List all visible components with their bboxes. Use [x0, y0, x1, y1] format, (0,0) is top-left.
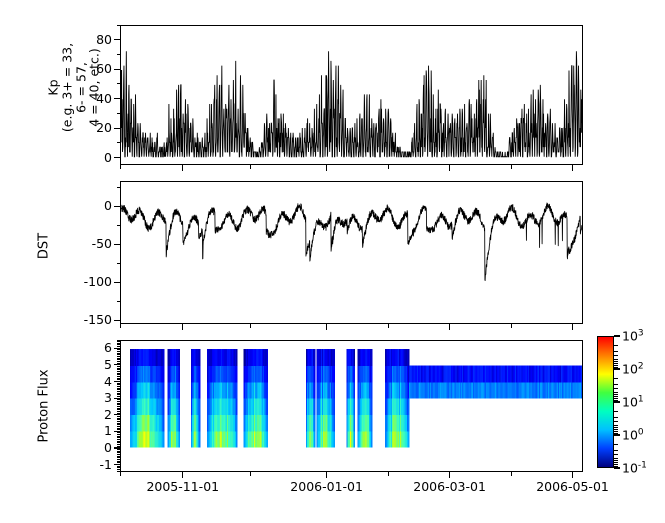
y-tick-label: 0: [72, 200, 112, 213]
y-tick-minor: [117, 408, 121, 409]
x-tick-label: 2006-05-01: [536, 481, 609, 494]
colorbar-tick-minor: [614, 429, 618, 430]
colorbar-tick-minor: [614, 433, 618, 434]
colorbar-label-exponent: 3: [638, 328, 644, 338]
y-tick-minor: [117, 378, 121, 379]
y-tick-minor: [117, 428, 121, 429]
y-tick-minor: [117, 371, 121, 372]
x-tick-minor: [388, 472, 389, 476]
x-tick-major: [572, 472, 573, 478]
y-tick-major: [114, 39, 120, 40]
x-tick-major: [326, 165, 327, 171]
colorbar-tick-minor: [614, 361, 618, 362]
colorbar-tick-minor: [614, 400, 618, 401]
x-tick-major: [326, 324, 327, 330]
y-tick-minor: [117, 439, 121, 440]
y-tick-minor: [117, 424, 121, 425]
y-tick-major: [114, 157, 120, 158]
y-tick-minor: [117, 359, 121, 360]
kp-axis-title-line: Kp: [47, 13, 61, 163]
y-tick-label: 1: [72, 425, 112, 438]
x-tick-major: [449, 324, 450, 330]
y-tick-minor: [117, 418, 121, 419]
y-tick-minor: [117, 54, 121, 55]
y-tick-minor: [117, 434, 121, 435]
colorbar-tick-minor: [614, 411, 618, 412]
colorbar-tick-minor: [614, 427, 618, 428]
y-tick-label: 6: [72, 342, 112, 355]
y-tick-minor: [117, 83, 121, 84]
y-tick-minor: [117, 301, 121, 302]
colorbar-tick-minor: [614, 462, 618, 463]
colorbar-tick-minor: [614, 378, 618, 379]
kp-axis-title-line: (e.g. 3+ = 33,: [60, 13, 74, 163]
x-tick-minor: [250, 324, 251, 328]
colorbar-label-base: 10: [622, 329, 638, 344]
colorbar-tick-major: [614, 401, 620, 402]
y-tick-label: 0: [72, 442, 112, 455]
y-tick-minor: [117, 373, 121, 374]
colorbar-tick-minor: [614, 359, 618, 360]
kp-axis-title: Kp(e.g. 3+ = 33,6- = 57,4 = 40, etc.): [47, 13, 102, 163]
x-tick-minor: [250, 472, 251, 476]
colorbar-tick-minor: [614, 367, 618, 368]
y-tick-major: [114, 69, 120, 70]
y-tick-minor: [117, 389, 121, 390]
colorbar-tick-major: [614, 434, 620, 435]
colorbar-tick-minor: [614, 345, 618, 346]
colorbar-tick-minor: [614, 444, 618, 445]
x-tick-minor: [120, 165, 121, 169]
colorbar-tick-minor: [614, 425, 618, 426]
y-tick-minor: [117, 386, 121, 387]
y-tick-minor: [117, 441, 121, 442]
x-tick-label: 2005-11-01: [146, 481, 219, 494]
y-tick-minor: [117, 351, 121, 352]
x-tick-minor: [388, 324, 389, 328]
y-tick-minor: [117, 391, 121, 392]
y-tick-minor: [117, 225, 121, 226]
y-tick-minor: [117, 401, 121, 402]
colorbar-label-base: 10: [622, 461, 638, 476]
y-tick-minor: [117, 25, 121, 26]
y-tick-minor: [117, 393, 121, 394]
y-tick-minor: [117, 344, 121, 345]
y-tick-minor: [117, 419, 121, 420]
y-tick-major: [114, 128, 120, 129]
y-tick-major: [114, 206, 120, 207]
colorbar-tick-minor: [614, 394, 618, 395]
colorbar-tick-label: 103: [622, 328, 644, 343]
y-tick-minor: [117, 399, 121, 400]
y-tick-minor: [117, 459, 121, 460]
colorbar-tick-minor: [614, 355, 618, 356]
x-tick-minor: [511, 472, 512, 476]
y-tick-minor: [117, 442, 121, 443]
y-tick-minor: [117, 426, 121, 427]
y-tick-minor: [117, 403, 121, 404]
colorbar-tick-major: [614, 467, 620, 468]
y-tick-minor: [117, 452, 121, 453]
y-tick-minor: [117, 404, 121, 405]
proton-flux-panel: [120, 340, 583, 472]
colorbar-tick-label: 100: [622, 427, 644, 442]
x-tick-major: [572, 165, 573, 171]
y-tick-label: 5: [72, 359, 112, 372]
y-tick-label: 3: [72, 392, 112, 405]
y-tick-minor: [117, 358, 121, 359]
y-tick-minor: [117, 356, 121, 357]
y-tick-label: -1: [72, 458, 112, 471]
y-tick-label: 2: [72, 408, 112, 421]
y-tick-minor: [117, 368, 121, 369]
y-tick-minor: [117, 340, 121, 341]
y-tick-minor: [117, 366, 121, 367]
y-tick-minor: [117, 354, 121, 355]
y-tick-minor: [117, 454, 121, 455]
dst-panel: [120, 181, 583, 324]
y-tick-minor: [117, 413, 121, 414]
y-tick-minor: [117, 383, 121, 384]
y-tick-label: -150: [72, 314, 112, 327]
colorbar-tick-minor: [614, 351, 618, 352]
y-tick-minor: [117, 363, 121, 364]
y-tick-major: [114, 282, 120, 283]
colorbar-tick-minor: [614, 384, 618, 385]
colorbar-tick-major: [614, 335, 620, 336]
colorbar-tick-minor: [614, 392, 618, 393]
x-tick-minor: [511, 165, 512, 169]
colorbar-tick-minor: [614, 421, 618, 422]
colorbar-tick-minor: [614, 466, 618, 467]
kp-axis-title-line: 6- = 57,: [74, 13, 88, 163]
colorbar-label-exponent: 0: [638, 427, 644, 437]
y-tick-minor: [117, 456, 121, 457]
colorbar-label-base: 10: [622, 362, 638, 377]
y-tick-minor: [117, 406, 121, 407]
y-tick-label: 4: [72, 375, 112, 388]
y-tick-minor: [117, 384, 121, 385]
colorbar-tick-minor: [614, 417, 618, 418]
colorbar-label-base: 10: [622, 428, 638, 443]
y-tick-minor: [117, 396, 121, 397]
x-tick-major: [326, 472, 327, 478]
y-tick-minor: [117, 462, 121, 463]
y-tick-minor: [117, 446, 121, 447]
y-tick-minor: [117, 461, 121, 462]
kp-panel: [120, 25, 583, 165]
y-tick-minor: [117, 432, 121, 433]
colorbar-label-exponent: -1: [638, 460, 647, 470]
colorbar-tick-minor: [614, 396, 618, 397]
colorbar-tick-minor: [614, 460, 618, 461]
y-tick-minor: [117, 346, 121, 347]
y-tick-minor: [117, 451, 121, 452]
y-tick-minor: [117, 353, 121, 354]
kp-axis-title-line: 4 = 40, etc.): [88, 13, 102, 163]
colorbar-label-exponent: 2: [638, 361, 644, 371]
colorbar-tick-label: 102: [622, 361, 644, 376]
y-tick-minor: [117, 376, 121, 377]
colorbar-tick-major: [614, 368, 620, 369]
y-tick-minor: [117, 349, 121, 350]
y-tick-minor: [117, 394, 121, 395]
colorbar-tick-minor: [614, 450, 618, 451]
y-tick-label: -100: [72, 276, 112, 289]
x-tick-minor: [120, 324, 121, 328]
y-tick-minor: [117, 444, 121, 445]
x-tick-minor: [250, 165, 251, 169]
x-tick-major: [182, 472, 183, 478]
x-tick-label: 2006-01-01: [290, 481, 363, 494]
x-tick-major: [182, 165, 183, 171]
y-tick-minor: [117, 187, 121, 188]
y-tick-minor: [117, 142, 121, 143]
colorbar-tick-minor: [614, 388, 618, 389]
x-tick-major: [449, 165, 450, 171]
x-tick-label: 2006-03-01: [413, 481, 486, 494]
y-tick-minor: [117, 374, 121, 375]
colorbar-tick-label: 10-1: [622, 460, 647, 475]
x-tick-major: [449, 472, 450, 478]
kp-series: [121, 26, 582, 164]
colorbar-label-base: 10: [622, 395, 638, 410]
y-tick-minor: [117, 457, 121, 458]
y-tick-minor: [117, 437, 121, 438]
y-tick-minor: [117, 411, 121, 412]
colorbar-gradient: [597, 336, 614, 468]
x-tick-minor: [511, 324, 512, 328]
y-tick-minor: [117, 341, 121, 342]
y-tick-minor: [117, 343, 121, 344]
y-tick-minor: [117, 369, 121, 370]
proton-flux-heatmap: [121, 341, 582, 471]
x-tick-major: [182, 324, 183, 330]
figure-root: 020406080 Kp(e.g. 3+ = 33,6- = 57,4 = 40…: [0, 0, 665, 523]
y-tick-minor: [117, 416, 121, 417]
colorbar-tick-minor: [614, 458, 618, 459]
colorbar-tick-minor: [614, 454, 618, 455]
x-tick-major: [572, 324, 573, 330]
y-tick-minor: [117, 449, 121, 450]
y-tick-minor: [117, 436, 121, 437]
y-tick-minor: [117, 263, 121, 264]
colorbar-tick-minor: [614, 363, 618, 364]
y-tick-minor: [117, 423, 121, 424]
colorbar-tick-label: 101: [622, 394, 644, 409]
y-tick-minor: [117, 379, 121, 380]
y-tick-minor: [117, 409, 121, 410]
y-tick-minor: [117, 421, 121, 422]
y-tick-minor: [117, 429, 121, 430]
x-tick-minor: [120, 472, 121, 476]
x-tick-minor: [388, 165, 389, 169]
y-tick-label: -50: [72, 238, 112, 251]
y-tick-minor: [117, 361, 121, 362]
proton-flux-axis-title: Proton Flux: [38, 369, 53, 442]
y-tick-minor: [117, 113, 121, 114]
dst-series: [121, 182, 582, 323]
y-tick-major: [114, 98, 120, 99]
y-tick-major: [114, 244, 120, 245]
dst-axis-title: DST: [38, 233, 53, 259]
y-tick-minor: [117, 388, 121, 389]
colorbar-label-exponent: 1: [638, 394, 644, 404]
y-tick-major: [114, 320, 120, 321]
